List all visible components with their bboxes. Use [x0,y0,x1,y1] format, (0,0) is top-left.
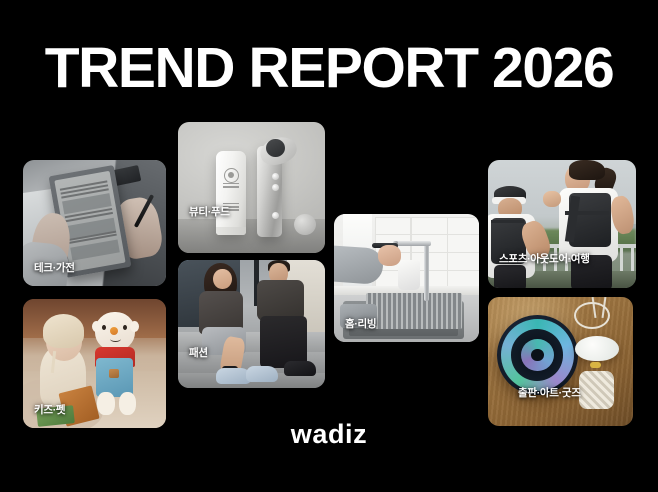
category-card-home[interactable]: 홈·리빙 [334,214,479,342]
page-title: TREND REPORT 2026 [0,38,658,98]
fashion-scene [178,260,325,388]
card-label-fashion: 패션 [189,345,208,360]
card-label-home: 홈·리빙 [345,316,376,331]
sports-scene [488,160,636,288]
card-label-beauty: 뷰티·푸드 [189,204,230,219]
category-card-beauty[interactable]: 뷰티·푸드 [178,122,325,253]
art-scene [488,297,633,426]
category-card-kids[interactable]: 키즈·펫 [23,299,166,428]
card-label-sports: 스포츠·아웃도어·여행 [499,251,590,266]
category-card-sports[interactable]: 스포츠·아웃도어·여행 [488,160,636,288]
category-card-tech[interactable]: 테크·가전 [23,160,166,286]
category-card-fashion[interactable]: 패션 [178,260,325,388]
category-card-art[interactable]: 출판·아트·굿즈 [488,297,633,426]
beauty-scene [178,122,325,253]
card-label-art: 출판·아트·굿즈 [518,385,581,400]
card-label-tech: 테크·가전 [34,260,75,275]
card-label-kids: 키즈·펫 [34,402,65,417]
wadiz-logo: wadiz [0,419,658,450]
trend-report-poster: TREND REPORT 2026 [0,0,658,492]
